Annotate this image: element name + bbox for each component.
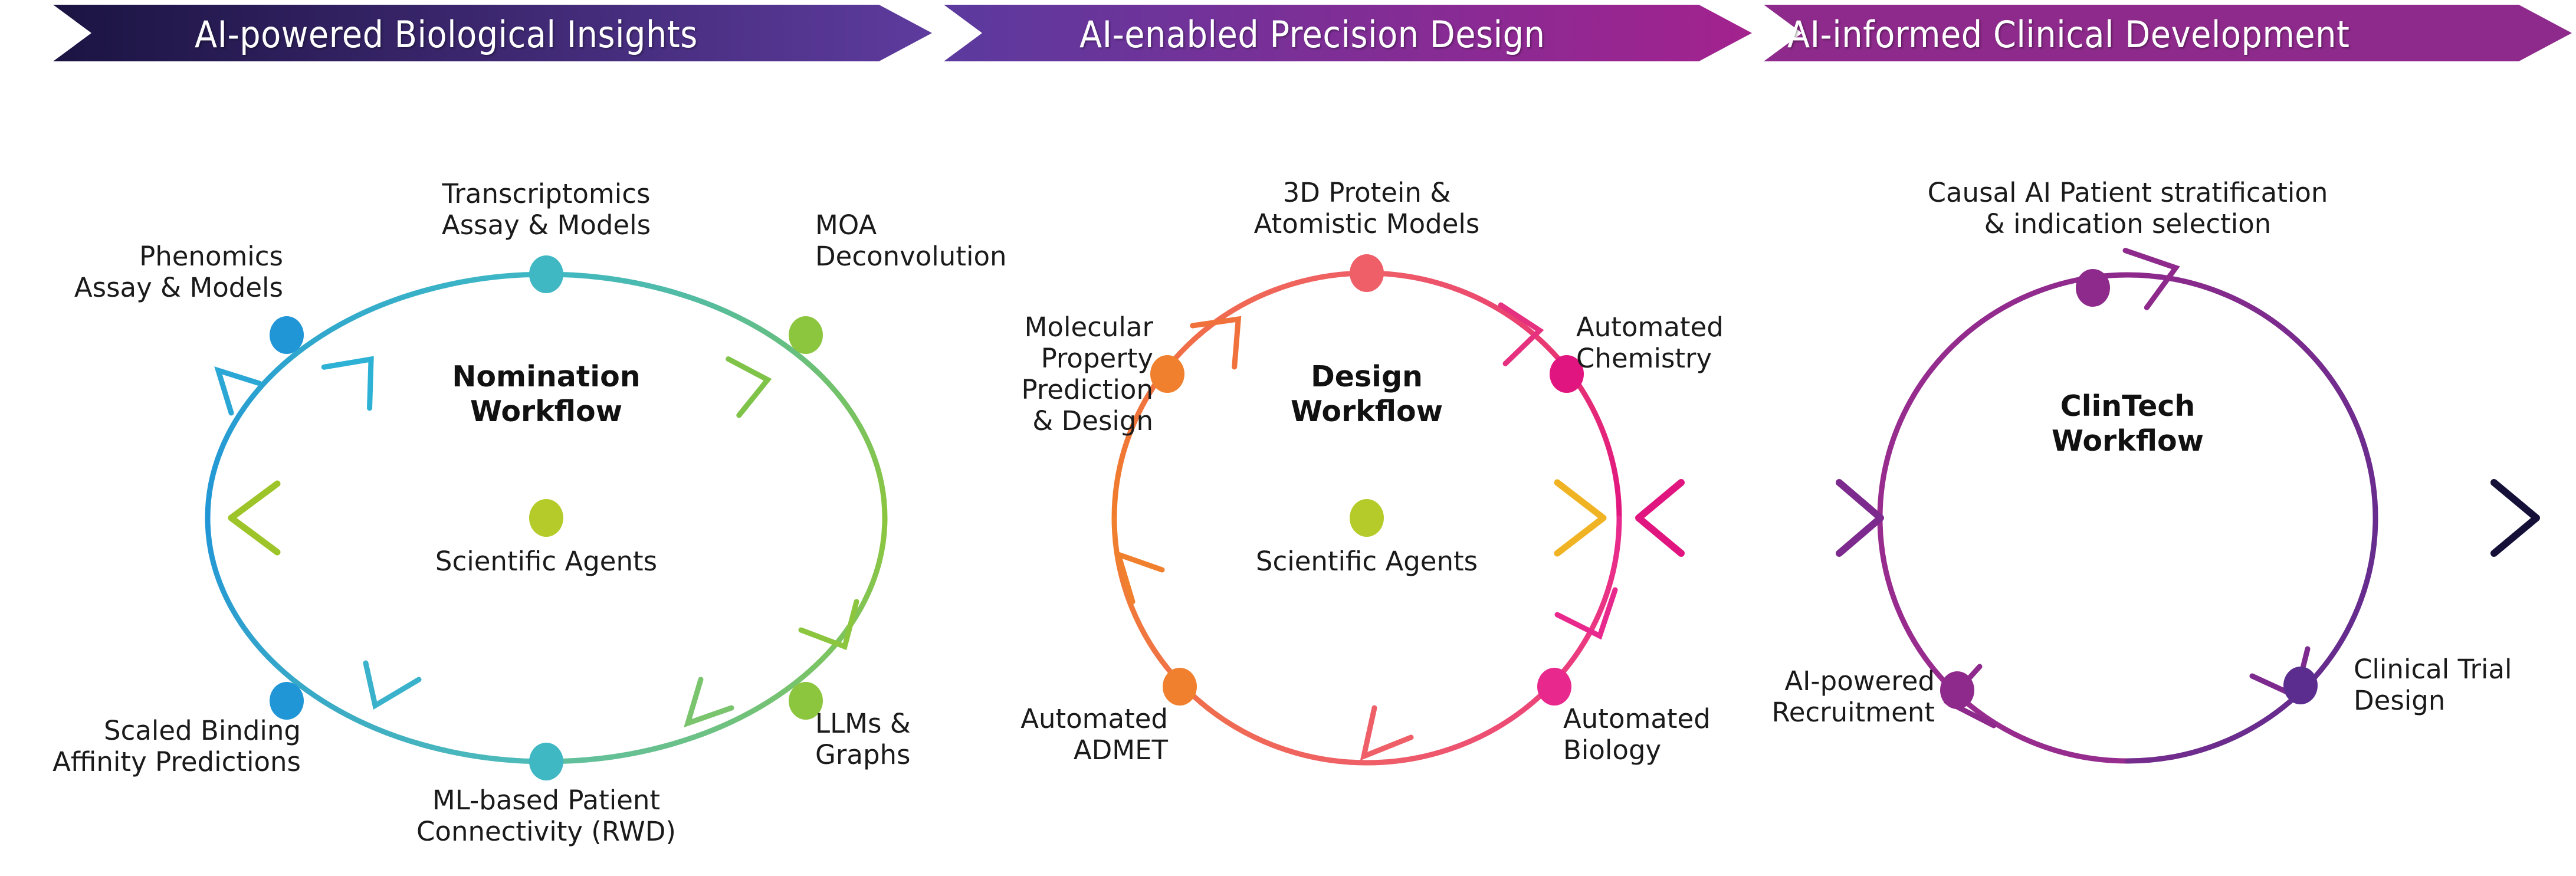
- arrow-head-icon: [688, 680, 731, 723]
- arrow-head-icon: [1364, 708, 1411, 756]
- clintech-node-label-clinical-trial: Clinical Trial Design: [2354, 654, 2566, 716]
- arrow-head-icon: [723, 359, 769, 418]
- workflow-node-dot-icon[interactable]: [1350, 254, 1384, 292]
- arrow-head-icon: [366, 663, 419, 706]
- design-node-label-automated-admet: Automated ADMET: [944, 703, 1168, 766]
- nomination-hub-axis: [231, 484, 1003, 552]
- clintech-arrowheads: [1948, 245, 2308, 726]
- clintech-node-label-ai-recruitment: AI-powered Recruitment: [1687, 665, 1935, 728]
- design-node-label-automated-chemistry: Automated Chemistry: [1576, 311, 1812, 374]
- workflow-node-dot-icon[interactable]: [529, 255, 563, 293]
- workflow-node-dot-icon[interactable]: [1150, 355, 1184, 393]
- nomination-node-label-phenomics: Phenomics Assay & Models: [0, 241, 283, 303]
- diagram-canvas: AI-powered Biological Insights AI-enable…: [0, 0, 2576, 876]
- workflow-node-dot-icon[interactable]: [2283, 667, 2318, 704]
- workflow-node-dot-icon[interactable]: [1537, 668, 1571, 706]
- arrow-head-icon: [1495, 305, 1542, 367]
- design-scientific-agents-label: Scientific Agents: [1219, 546, 1514, 577]
- design-to-clintech-connector: [1639, 483, 1881, 553]
- design-hub-axis: [1050, 483, 1603, 553]
- clintech-arc-right: [2128, 275, 2375, 761]
- nomination-workflow-title: Nomination Workflow: [399, 360, 694, 429]
- workflow-node-dot-icon[interactable]: [270, 682, 304, 720]
- arrow-head-icon: [324, 353, 385, 418]
- workflow-node-dot-icon[interactable]: [1163, 668, 1197, 706]
- nomination-node-label-transcriptomics: Transcriptomics Assay & Models: [399, 178, 694, 241]
- nomination-scientific-agents-label: Scientific Agents: [399, 546, 694, 577]
- workflow-hub-dot-icon[interactable]: [529, 499, 563, 537]
- workflow-node-dot-icon[interactable]: [789, 316, 823, 354]
- design-node-label-3d-protein: 3D Protein & Atomistic Models: [1219, 177, 1514, 239]
- design-node-label-molecular-property: Molecular Property Prediction & Design: [941, 311, 1153, 437]
- arrow-head-icon: [801, 602, 857, 647]
- workflow-node-dot-icon[interactable]: [1940, 671, 1974, 709]
- nomination-node-label-ml-rwd: ML-based Patient Connectivity (RWD): [381, 785, 711, 847]
- nomination-node-label-scaled-binding: Scaled Binding Affinity Predictions: [0, 715, 301, 777]
- nomination-node-label-moa: MOA Deconvolution: [815, 209, 1063, 272]
- clintech-node-label-causal-ai: Causal AI Patient stratification & indic…: [1862, 177, 2393, 239]
- workflow-hub-dot-icon[interactable]: [1350, 499, 1384, 537]
- design-workflow-title: Design Workflow: [1219, 360, 1514, 429]
- workflow-node-dot-icon[interactable]: [270, 316, 304, 354]
- workflow-node-dot-icon[interactable]: [529, 743, 563, 780]
- clintech-workflow-title: ClinTech Workflow: [1980, 389, 2275, 459]
- clintech-out-connector: [2395, 483, 2536, 553]
- workflow-node-dot-icon[interactable]: [2076, 269, 2110, 307]
